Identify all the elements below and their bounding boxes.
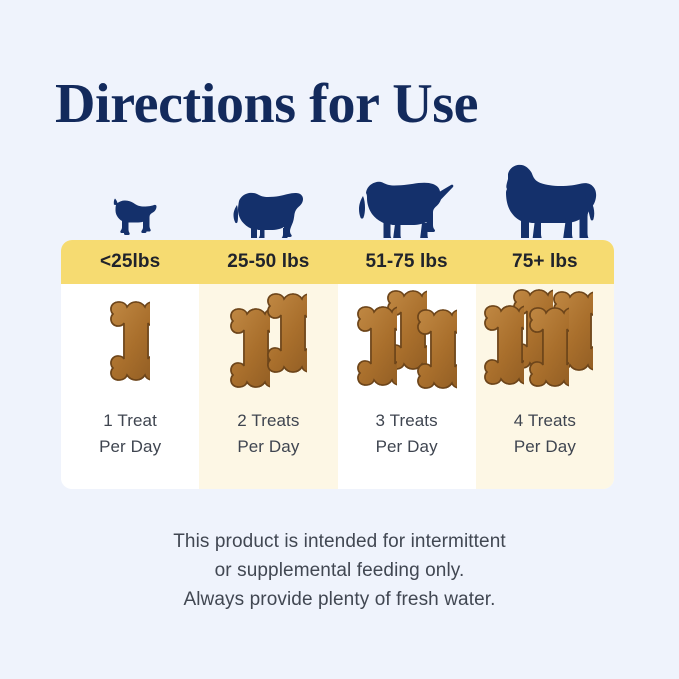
- medium-dog-silhouette-icon: [229, 186, 307, 238]
- weight-header-row: <25lbs 25-50 lbs 51-75 lbs 75+ lbs: [61, 240, 614, 284]
- directions-for-use-panel: Directions for Use: [0, 0, 679, 679]
- bone-treat-icon: [529, 306, 569, 402]
- weight-header-cell: <25lbs: [61, 240, 199, 284]
- dosage-cell-2: 2 Treats Per Day: [199, 284, 337, 489]
- small-dog-silhouette-icon: [100, 196, 160, 238]
- large-dog-silhouette-icon: [359, 176, 455, 238]
- disclaimer-text: This product is intended for intermitten…: [0, 527, 679, 614]
- bone-treat-icon: [357, 305, 397, 401]
- page-title: Directions for Use: [55, 72, 478, 136]
- dosage-cell-1: 1 Treat Per Day: [61, 284, 199, 489]
- dog-icon-cell-4: [476, 162, 614, 238]
- extra-large-dog-silhouette-icon: [493, 164, 597, 238]
- bone-treat-icon: [417, 308, 457, 404]
- treat-group-2: [199, 286, 337, 408]
- bone-treat-icon: [110, 300, 150, 396]
- bone-treat-icon: [484, 304, 524, 400]
- dosage-label-2: 2 Treats Per Day: [237, 408, 299, 460]
- weight-header-cell: 51-75 lbs: [338, 240, 476, 284]
- feeding-guide-table: <25lbs 25-50 lbs 51-75 lbs 75+ lbs: [61, 240, 614, 489]
- bone-treat-icon: [230, 307, 270, 403]
- treat-group-4: [476, 286, 614, 408]
- dosage-label-4: 4 Treats Per Day: [514, 408, 576, 460]
- dog-icon-cell-2: [199, 162, 337, 238]
- dosage-cell-4: 4 Treats Per Day: [476, 284, 614, 489]
- dog-size-icon-row: [61, 162, 614, 238]
- dog-icon-cell-3: [338, 162, 476, 238]
- disclaimer-line-2: or supplemental feeding only.: [0, 556, 679, 585]
- dosage-cell-3: 3 Treats Per Day: [338, 284, 476, 489]
- dosage-label-1: 1 Treat Per Day: [99, 408, 161, 460]
- treat-group-1: [61, 286, 199, 408]
- treat-group-3: [338, 286, 476, 408]
- dog-icon-cell-1: [61, 162, 199, 238]
- weight-header-cell: 25-50 lbs: [199, 240, 337, 284]
- dosage-body-row: 1 Treat Per Day 2 Treats Per Day: [61, 284, 614, 489]
- disclaimer-line-3: Always provide plenty of fresh water.: [0, 585, 679, 614]
- bone-treat-icon: [267, 292, 307, 388]
- dosage-label-3: 3 Treats Per Day: [376, 408, 438, 460]
- weight-header-cell: 75+ lbs: [476, 240, 614, 284]
- disclaimer-line-1: This product is intended for intermitten…: [0, 527, 679, 556]
